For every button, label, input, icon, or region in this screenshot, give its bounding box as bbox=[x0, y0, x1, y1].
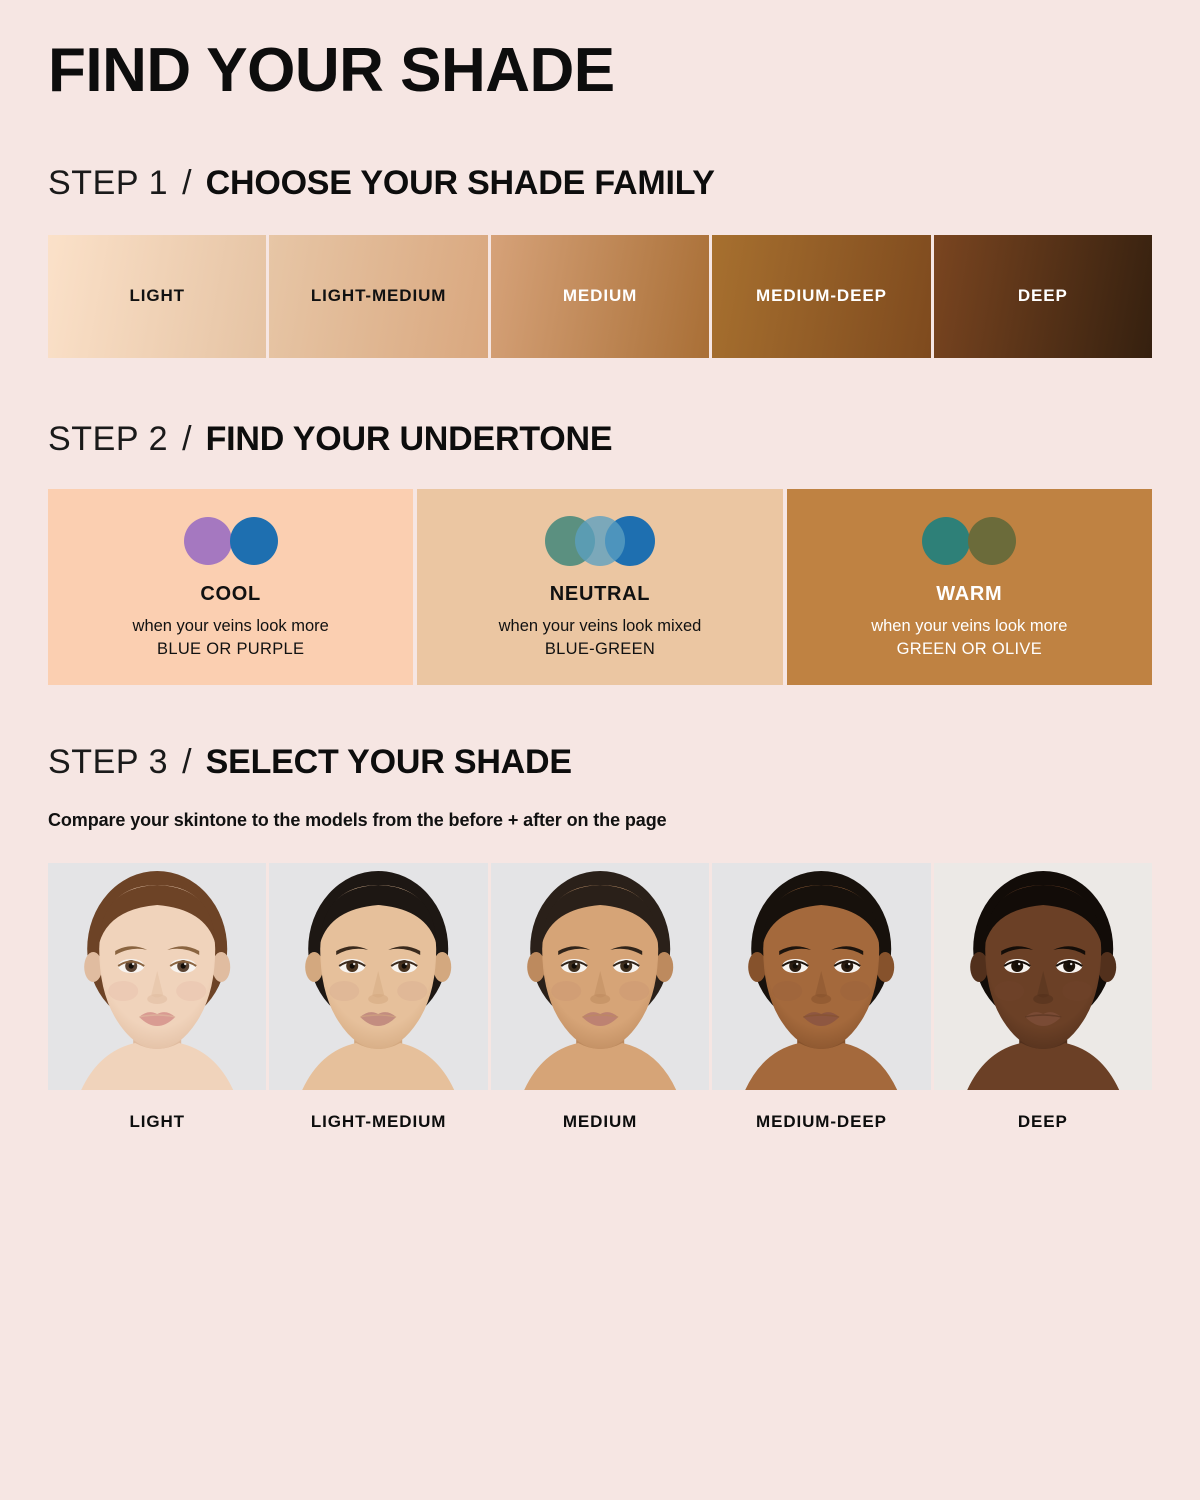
model-photo-medium-deep[interactable] bbox=[712, 863, 930, 1090]
shade-swatch-medium-deep[interactable]: MEDIUM-DEEP bbox=[712, 235, 930, 358]
shade-swatch-deep[interactable]: DEEP bbox=[934, 235, 1152, 358]
undertone-description-line-2: GREEN OR OLIVE bbox=[871, 638, 1067, 661]
model-portrait-light bbox=[48, 863, 266, 1090]
step-2-title: FIND YOUR UNDERTONE bbox=[206, 420, 613, 459]
shade-swatch-label: DEEP bbox=[1018, 286, 1068, 306]
undertone-description-line-1: when your veins look more bbox=[133, 615, 329, 638]
undertone-circle-group bbox=[921, 515, 1017, 567]
step-3-subtitle: Compare your skintone to the models from… bbox=[48, 810, 1152, 831]
shade-swatch-medium[interactable]: MEDIUM bbox=[491, 235, 709, 358]
undertone-panel-neutral[interactable]: NEUTRALwhen your veins look mixedBLUE-GR… bbox=[417, 489, 782, 685]
model-photo-deep[interactable] bbox=[934, 863, 1152, 1090]
model-label-light-medium: LIGHT-MEDIUM bbox=[269, 1112, 487, 1132]
purple-vein-swatch bbox=[184, 517, 232, 565]
undertone-name: NEUTRAL bbox=[550, 583, 650, 606]
undertone-description-line-1: when your veins look mixed bbox=[499, 615, 702, 638]
undertone-circle-group bbox=[183, 515, 279, 567]
undertone-panel-cool[interactable]: COOLwhen your veins look moreBLUE OR PUR… bbox=[48, 489, 413, 685]
find-your-shade-page: FIND YOUR SHADE STEP 1 / CHOOSE YOUR SHA… bbox=[0, 0, 1200, 1500]
blue-vein-swatch bbox=[230, 517, 278, 565]
undertone-description-line-2: BLUE-GREEN bbox=[499, 638, 702, 661]
model-label-medium: MEDIUM bbox=[491, 1112, 709, 1132]
model-portrait-medium bbox=[491, 863, 709, 1090]
shade-swatch-label: MEDIUM-DEEP bbox=[756, 286, 887, 306]
step-2-heading: STEP 2 / FIND YOUR UNDERTONE bbox=[48, 420, 1152, 459]
model-portrait-light-medium bbox=[269, 863, 487, 1090]
undertone-description: when your veins look mixedBLUE-GREEN bbox=[499, 615, 702, 662]
undertone-description: when your veins look moreGREEN OR OLIVE bbox=[871, 615, 1067, 662]
shade-swatch-label: MEDIUM bbox=[563, 286, 637, 306]
model-label-row: LIGHTLIGHT-MEDIUMMEDIUMMEDIUM-DEEPDEEP bbox=[48, 1112, 1152, 1132]
undertone-panel-warm[interactable]: WARMwhen your veins look moreGREEN OR OL… bbox=[787, 489, 1152, 685]
blended-vein-swatch bbox=[575, 516, 625, 566]
undertone-name: COOL bbox=[200, 583, 261, 606]
model-label-light: LIGHT bbox=[48, 1112, 266, 1132]
model-photo-medium[interactable] bbox=[491, 863, 709, 1090]
step-2-label: STEP 2 bbox=[48, 420, 168, 459]
shade-swatch-light-medium[interactable]: LIGHT-MEDIUM bbox=[269, 235, 487, 358]
undertone-panels: COOLwhen your veins look moreBLUE OR PUR… bbox=[48, 489, 1152, 685]
model-portrait-medium-deep bbox=[712, 863, 930, 1090]
undertone-circle-group bbox=[544, 515, 656, 567]
step-1-heading: STEP 1 / CHOOSE YOUR SHADE FAMILY bbox=[48, 164, 1152, 203]
step-1-title: CHOOSE YOUR SHADE FAMILY bbox=[206, 164, 715, 203]
step-1-separator: / bbox=[168, 164, 205, 203]
undertone-description: when your veins look moreBLUE OR PURPLE bbox=[133, 615, 329, 662]
undertone-name: WARM bbox=[936, 583, 1002, 606]
model-label-deep: DEEP bbox=[934, 1112, 1152, 1132]
undertone-description-line-1: when your veins look more bbox=[871, 615, 1067, 638]
page-title: FIND YOUR SHADE bbox=[48, 0, 1152, 104]
shade-family-bar: LIGHTLIGHT-MEDIUMMEDIUMMEDIUM-DEEPDEEP bbox=[48, 235, 1152, 358]
shade-swatch-label: LIGHT-MEDIUM bbox=[311, 286, 446, 306]
model-photo-light-medium[interactable] bbox=[269, 863, 487, 1090]
step-1-label: STEP 1 bbox=[48, 164, 168, 203]
undertone-description-line-2: BLUE OR PURPLE bbox=[133, 638, 329, 661]
step-3-title: SELECT YOUR SHADE bbox=[206, 743, 572, 782]
model-photo-light[interactable] bbox=[48, 863, 266, 1090]
step-2-separator: / bbox=[168, 420, 205, 459]
step-3-label: STEP 3 bbox=[48, 743, 168, 782]
olive-vein-swatch bbox=[968, 517, 1016, 565]
shade-swatch-label: LIGHT bbox=[129, 286, 185, 306]
model-photo-row bbox=[48, 863, 1152, 1090]
step-3-heading: STEP 3 / SELECT YOUR SHADE bbox=[48, 743, 1152, 782]
step-3-separator: / bbox=[168, 743, 205, 782]
model-portrait-deep bbox=[934, 863, 1152, 1090]
shade-swatch-light[interactable]: LIGHT bbox=[48, 235, 266, 358]
teal-vein-swatch bbox=[922, 517, 970, 565]
model-label-medium-deep: MEDIUM-DEEP bbox=[712, 1112, 930, 1132]
